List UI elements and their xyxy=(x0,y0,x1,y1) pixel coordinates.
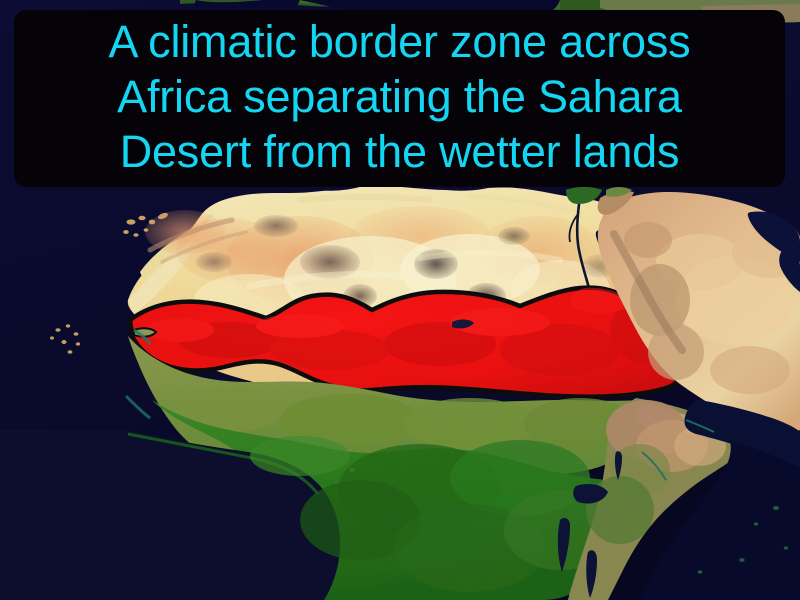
caption-line-3: Desert from the wetter lands xyxy=(120,124,680,179)
caption-line-1: A climatic border zone across xyxy=(109,14,691,69)
definition-caption-box: A climatic border zone across Africa sep… xyxy=(14,10,785,187)
definition-card: A climatic border zone across Africa sep… xyxy=(0,0,800,600)
caption-line-2: Africa separating the Sahara xyxy=(117,69,682,124)
